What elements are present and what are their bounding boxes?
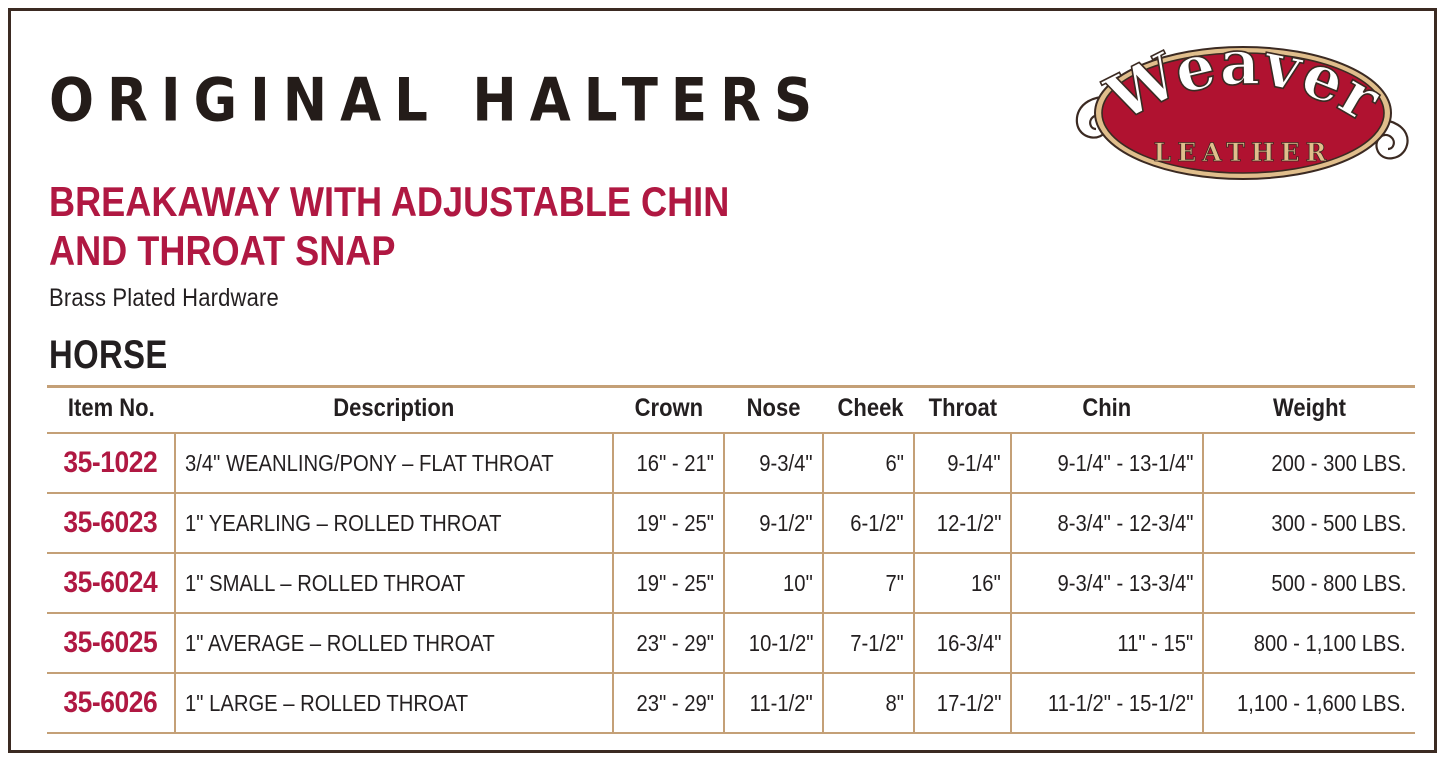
cell-crown: 23" - 29" (613, 613, 724, 673)
cell-value: 35-6026 (64, 686, 158, 720)
cell-weight: 1,100 - 1,600 LBS. (1203, 673, 1415, 733)
cell-item-no: 35-6024 (47, 553, 175, 613)
cell-nose: 10-1/2" (724, 613, 823, 673)
product-spec-card: ORIGINAL HALTERS BREAKAWAY WITH ADJUSTAB… (8, 8, 1437, 753)
cell-cheek: 6" (823, 433, 914, 493)
column-header-label: Description (333, 394, 454, 423)
table-row: 35-6023 1" YEARLING – ROLLED THROAT 19" … (47, 493, 1415, 553)
cell-value: 6" (886, 450, 904, 477)
cell-value: 16-3/4" (936, 630, 1001, 657)
column-header-label: Weight (1273, 394, 1346, 423)
cell-value: 10-1/2" (748, 630, 813, 657)
column-header-label: Cheek (838, 394, 904, 423)
column-header-label: Nose (747, 394, 801, 423)
cell-nose: 10" (724, 553, 823, 613)
cell-value: 8-3/4" - 12-3/4" (1057, 510, 1193, 537)
cell-value: 500 - 800 LBS. (1271, 570, 1406, 597)
column-header-label: Chin (1083, 394, 1132, 423)
column-header-label: Item No. (68, 394, 155, 423)
section-title-horse: HORSE (49, 333, 168, 378)
column-header-crown: Crown (613, 387, 724, 434)
cell-crown: 23" - 29" (613, 673, 724, 733)
cell-value: 11-1/2" - 15-1/2" (1047, 690, 1193, 717)
cell-description: 3/4" WEANLING/PONY – FLAT THROAT (175, 433, 613, 493)
cell-value: 1" AVERAGE – ROLLED THROAT (185, 630, 495, 657)
cell-value: 7-1/2" (851, 630, 904, 657)
subtitle-line-2: AND THROAT SNAP (49, 226, 763, 275)
cell-weight: 200 - 300 LBS. (1203, 433, 1415, 493)
cell-value: 6-1/2" (851, 510, 904, 537)
cell-nose: 11-1/2" (724, 673, 823, 733)
cell-value: 17-1/2" (936, 690, 1001, 717)
cell-description: 1" AVERAGE – ROLLED THROAT (175, 613, 613, 673)
cell-value: 10" (783, 570, 813, 597)
cell-value: 9-3/4" (760, 450, 813, 477)
cell-item-no: 35-6023 (47, 493, 175, 553)
svg-text:LEATHER: LEATHER (1154, 138, 1333, 167)
cell-item-no: 35-6026 (47, 673, 175, 733)
cell-value: 16" - 21" (637, 450, 714, 477)
cell-value: 23" - 29" (637, 630, 714, 657)
cell-weight: 500 - 800 LBS. (1203, 553, 1415, 613)
table-row: 35-1022 3/4" WEANLING/PONY – FLAT THROAT… (47, 433, 1415, 493)
column-header-weight: Weight (1203, 387, 1415, 434)
cell-value: 9-3/4" - 13-3/4" (1057, 570, 1193, 597)
cell-value: 11-1/2" (750, 690, 813, 717)
cell-throat: 16" (914, 553, 1011, 613)
cell-value: 19" - 25" (637, 570, 714, 597)
column-header-label: Throat (929, 394, 997, 423)
cell-value: 1" LARGE – ROLLED THROAT (185, 690, 468, 717)
table-row: 35-6024 1" SMALL – ROLLED THROAT 19" - 2… (47, 553, 1415, 613)
column-header-throat: Throat (914, 387, 1011, 434)
cell-throat: 12-1/2" (914, 493, 1011, 553)
column-header-nose: Nose (724, 387, 823, 434)
cell-weight: 300 - 500 LBS. (1203, 493, 1415, 553)
cell-chin: 9-1/4" - 13-1/4" (1011, 433, 1203, 493)
cell-crown: 19" - 25" (613, 553, 724, 613)
table-row: 35-6025 1" AVERAGE – ROLLED THROAT 23" -… (47, 613, 1415, 673)
cell-chin: 8-3/4" - 12-3/4" (1011, 493, 1203, 553)
cell-value: 23" - 29" (637, 690, 714, 717)
cell-value: 1" YEARLING – ROLLED THROAT (185, 510, 502, 537)
table-body: 35-1022 3/4" WEANLING/PONY – FLAT THROAT… (47, 433, 1415, 733)
hardware-note: Brass Plated Hardware (49, 284, 279, 313)
cell-value: 16" (971, 570, 1001, 597)
column-header-cheek: Cheek (823, 387, 914, 434)
cell-value: 1,100 - 1,600 LBS. (1237, 690, 1406, 717)
cell-description: 1" YEARLING – ROLLED THROAT (175, 493, 613, 553)
cell-value: 19" - 25" (637, 510, 714, 537)
cell-value: 9-1/2" (760, 510, 813, 537)
weaver-leather-logo: Weaver LEATHER (1063, 29, 1423, 197)
column-header-description: Description (175, 387, 613, 434)
cell-weight: 800 - 1,100 LBS. (1203, 613, 1415, 673)
subtitle-line-1: BREAKAWAY WITH ADJUSTABLE CHIN (49, 177, 763, 226)
cell-value: 9-1/4" - 13-1/4" (1057, 450, 1193, 477)
cell-chin: 11" - 15" (1011, 613, 1203, 673)
cell-chin: 9-3/4" - 13-3/4" (1011, 553, 1203, 613)
cell-value: 35-6023 (64, 506, 158, 540)
cell-item-no: 35-6025 (47, 613, 175, 673)
cell-value: 800 - 1,100 LBS. (1254, 630, 1406, 657)
cell-cheek: 7-1/2" (823, 613, 914, 673)
cell-value: 300 - 500 LBS. (1271, 510, 1406, 537)
specifications-table: Item No. Description Crown Nose Cheek Th… (47, 385, 1415, 734)
cell-cheek: 8" (823, 673, 914, 733)
cell-description: 1" LARGE – ROLLED THROAT (175, 673, 613, 733)
cell-value: 1" SMALL – ROLLED THROAT (185, 570, 465, 597)
cell-crown: 19" - 25" (613, 493, 724, 553)
cell-value: 200 - 300 LBS. (1271, 450, 1406, 477)
column-header-label: Crown (634, 394, 702, 423)
cell-throat: 17-1/2" (914, 673, 1011, 733)
table-header-row: Item No. Description Crown Nose Cheek Th… (47, 387, 1415, 434)
cell-value: 9-1/4" (948, 450, 1001, 477)
cell-throat: 16-3/4" (914, 613, 1011, 673)
cell-cheek: 7" (823, 553, 914, 613)
cell-value: 12-1/2" (936, 510, 1001, 537)
column-header-chin: Chin (1011, 387, 1203, 434)
cell-value: 3/4" WEANLING/PONY – FLAT THROAT (185, 450, 554, 477)
cell-value: 35-1022 (64, 446, 158, 480)
column-header-item-no: Item No. (47, 387, 175, 434)
cell-value: 8" (886, 690, 904, 717)
cell-item-no: 35-1022 (47, 433, 175, 493)
cell-nose: 9-3/4" (724, 433, 823, 493)
cell-value: 7" (886, 570, 904, 597)
product-subtitle: BREAKAWAY WITH ADJUSTABLE CHIN AND THROA… (49, 177, 763, 275)
cell-nose: 9-1/2" (724, 493, 823, 553)
cell-chin: 11-1/2" - 15-1/2" (1011, 673, 1203, 733)
cell-description: 1" SMALL – ROLLED THROAT (175, 553, 613, 613)
cell-value: 11" - 15" (1117, 630, 1193, 657)
table-row: 35-6026 1" LARGE – ROLLED THROAT 23" - 2… (47, 673, 1415, 733)
cell-value: 35-6025 (64, 626, 158, 660)
cell-throat: 9-1/4" (914, 433, 1011, 493)
cell-value: 35-6024 (64, 566, 158, 600)
cell-crown: 16" - 21" (613, 433, 724, 493)
cell-cheek: 6-1/2" (823, 493, 914, 553)
page-title: ORIGINAL HALTERS (49, 71, 825, 130)
